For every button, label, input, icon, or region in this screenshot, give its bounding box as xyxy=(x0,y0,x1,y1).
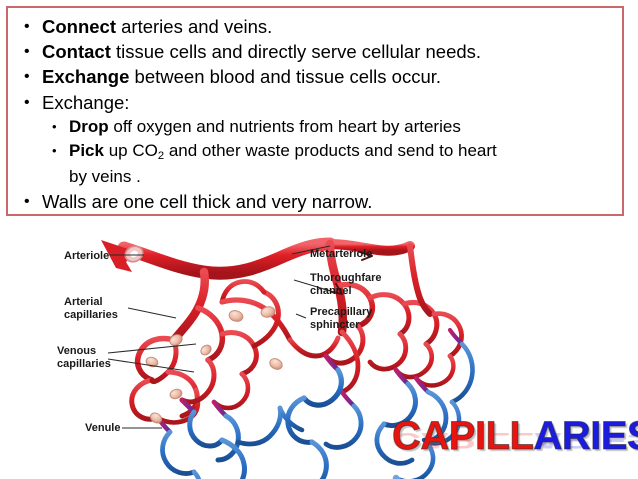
bullet-list: • Connect arteries and veins. • Contact … xyxy=(16,14,614,214)
list-item: • Exchange: xyxy=(16,90,614,115)
list-item-rest: off oxygen and nutrients from heart by a… xyxy=(109,117,461,136)
list-item-rest: up CO xyxy=(104,141,158,160)
label-venous-capillaries: Venous capillaries xyxy=(57,345,111,371)
list-item-bold-lead: Pick xyxy=(69,141,104,160)
label-arterial-capillaries: Arterial capillaries xyxy=(64,296,118,322)
list-item-bold-lead: Exchange xyxy=(42,66,129,87)
capillaries-wordart-reflection: CAPILLARIES xyxy=(392,429,638,451)
list-item-text: Pick up CO2 and other waste products and… xyxy=(69,139,614,165)
bullet-marker: • xyxy=(24,14,42,39)
list-item-rest: tissue cells and directly serve cellular… xyxy=(111,41,481,62)
co2-subscript: 2 xyxy=(158,150,164,162)
list-item-rest: between blood and tissue cells occur. xyxy=(129,66,441,87)
list-item-text: Walls are one cell thick and very narrow… xyxy=(42,189,614,214)
list-item: • Connect arteries and veins. xyxy=(16,14,614,39)
list-item: • Drop off oxygen and nutrients from hea… xyxy=(16,115,614,139)
list-item: • Walls are one cell thick and very narr… xyxy=(16,189,614,214)
bullet-marker: • xyxy=(24,90,42,115)
label-arteriole: Arteriole xyxy=(64,250,109,263)
list-item-text: Contact tissue cells and directly serve … xyxy=(42,39,614,64)
list-item-rest-2: and other waste products and send to hea… xyxy=(164,141,497,160)
list-item-bold-lead: Drop xyxy=(69,117,109,136)
slide-text-box: • Connect arteries and veins. • Contact … xyxy=(6,6,624,216)
list-item-text: Drop off oxygen and nutrients from heart… xyxy=(69,115,614,139)
wordart-reflection-segment-blue: ARIES xyxy=(533,428,638,452)
list-item-rest: Exchange: xyxy=(42,92,129,113)
bullet-marker: • xyxy=(52,115,69,139)
list-item-rest: Walls are one cell thick and very narrow… xyxy=(42,191,372,212)
label-precapillary-sphincter: Precapillary sphincter xyxy=(310,306,372,332)
list-item-bold-lead: Connect xyxy=(42,16,116,37)
capillaries-wordart: CAPILLARIES CAPILLARIES xyxy=(392,416,632,474)
label-thoroughfare-channel: Thoroughfare channel xyxy=(310,272,382,298)
label-venule: Venule xyxy=(85,422,120,435)
list-item: • Exchange between blood and tissue cell… xyxy=(16,64,614,89)
label-metarteriole: Metarteriole xyxy=(310,248,372,261)
bullet-marker: • xyxy=(52,139,69,163)
list-item-text: Exchange between blood and tissue cells … xyxy=(42,64,614,89)
bullet-marker: • xyxy=(24,64,42,89)
bullet-marker: • xyxy=(24,39,42,64)
list-item: • Contact tissue cells and directly serv… xyxy=(16,39,614,64)
wordart-reflection-segment-red: CAPILL xyxy=(392,428,533,452)
list-item-text: Connect arteries and veins. xyxy=(42,14,614,39)
list-item-continuation-text: by veins . xyxy=(69,165,614,189)
bullet-spacer xyxy=(52,165,69,189)
list-item: • Pick up CO2 and other waste products a… xyxy=(16,139,614,165)
bullet-marker: • xyxy=(24,189,42,214)
list-item-continuation: by veins . xyxy=(16,165,614,189)
list-item-rest: arteries and veins. xyxy=(116,16,272,37)
list-item-bold-lead: Contact xyxy=(42,41,111,62)
list-item-text: Exchange: xyxy=(42,90,614,115)
